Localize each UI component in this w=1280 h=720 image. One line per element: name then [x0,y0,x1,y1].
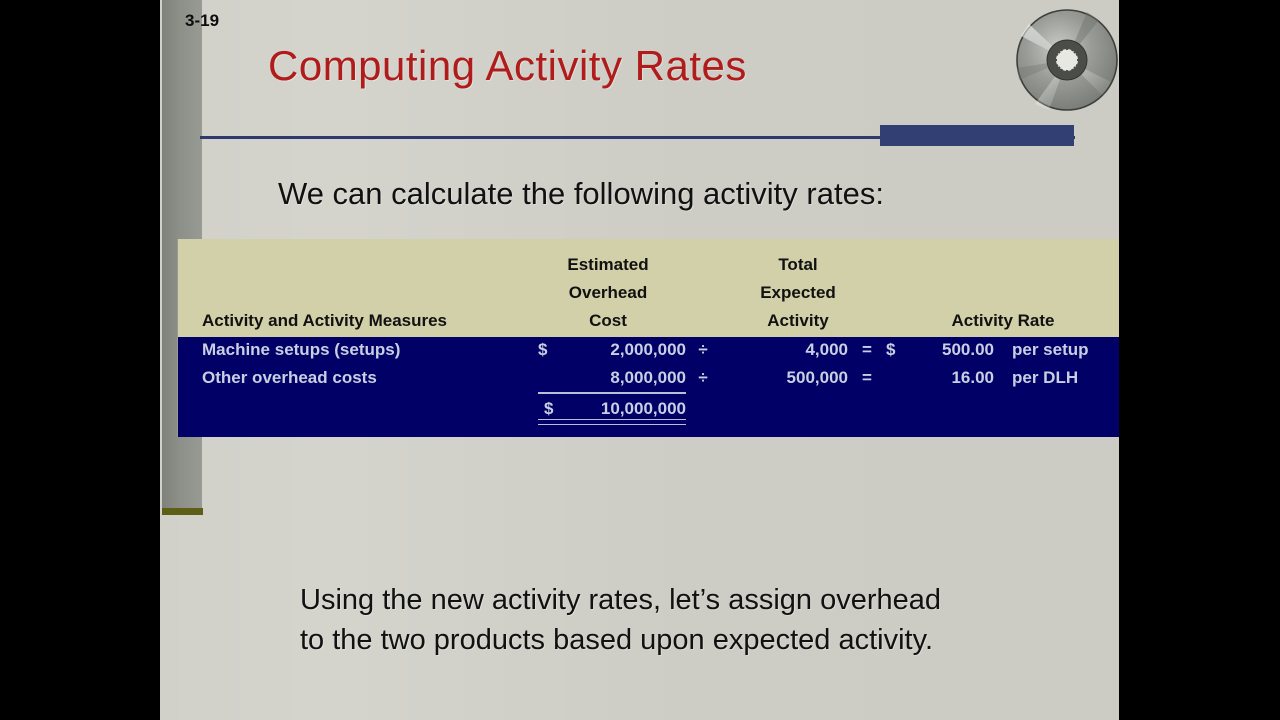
row-0-rate-symbol: $ [886,340,895,360]
closing-line-2: to the two products based upon expected … [300,620,941,660]
row-0-cost-symbol: $ [538,340,547,360]
screen: 3-19 Computing Activity Rates [0,0,1280,720]
header-activity-line1: Total [708,255,888,275]
header-activity-rate: Activity Rate [908,311,1098,331]
row-1-cost: 8,000,000 [566,368,686,388]
row-1-divide-operator: ÷ [690,368,716,388]
table-header: Activity and Activity Measures Estimated… [178,239,1119,337]
row-1-activity: 500,000 [726,368,848,388]
header-activity-line2: Expected [708,283,888,303]
intro-text: We can calculate the following activity … [278,176,884,212]
header-cost-line2: Overhead [518,283,698,303]
table-body: Machine setups (setups) $ 2,000,000 ÷ 4,… [178,337,1119,437]
activity-rates-table: Activity and Activity Measures Estimated… [177,239,1119,437]
subtotal-rule [538,392,686,394]
total-symbol: $ [544,399,553,419]
compact-disc-icon [1015,8,1119,112]
total-double-rule [538,419,686,425]
presentation-slide: 3-19 Computing Activity Rates [160,0,1119,720]
closing-line-1: Using the new activity rates, let’s assi… [300,580,941,620]
row-1-rate-unit: per DLH [1012,368,1078,388]
header-cost-line3: Cost [518,311,698,331]
row-0-rate-unit: per setup [1012,340,1089,360]
slide-title: Computing Activity Rates [268,42,747,90]
header-activity-line3: Activity [708,311,888,331]
row-0-cost: 2,000,000 [566,340,686,360]
row-0-divide-operator: ÷ [690,340,716,360]
total-cost: 10,000,000 [566,399,686,419]
header-activity-measures: Activity and Activity Measures [202,311,447,331]
row-0-rate: 500.00 [898,340,994,360]
slide-number: 3-19 [185,11,219,31]
title-accent-block [880,125,1074,146]
header-cost-line1: Estimated [518,255,698,275]
row-1-rate: 16.00 [898,368,994,388]
row-0-measure: Machine setups (setups) [202,340,400,360]
row-0-activity: 4,000 [726,340,848,360]
sidebar-accent-bar [162,508,203,515]
row-0-equals-operator: = [856,340,878,360]
row-1-equals-operator: = [856,368,878,388]
row-1-measure: Other overhead costs [202,368,377,388]
closing-text: Using the new activity rates, let’s assi… [300,580,941,660]
